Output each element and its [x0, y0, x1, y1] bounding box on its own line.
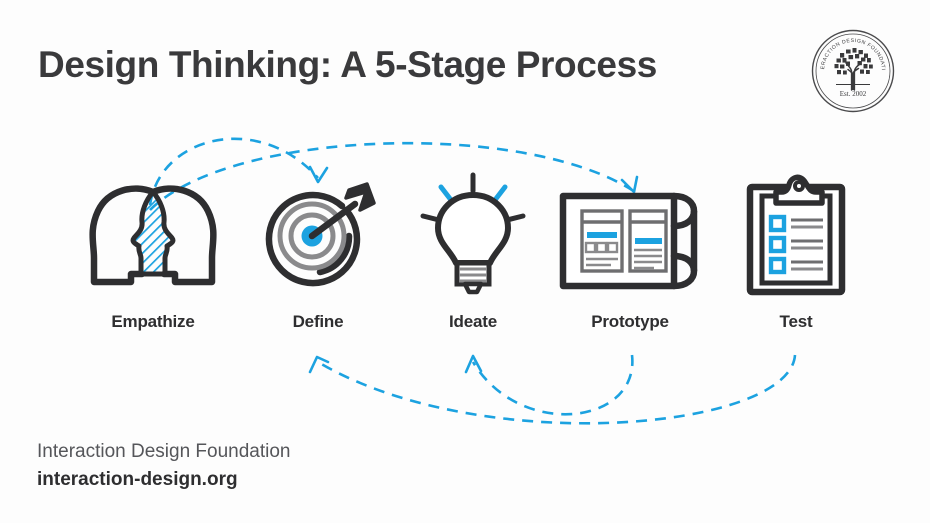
interaction-design-foundation-logo: INTERACTION DESIGN FOUNDATION Est. 2002 [810, 28, 896, 114]
stage-label-prototype: Prototype [550, 312, 710, 332]
stage-test[interactable]: Test [716, 176, 876, 332]
slide-canvas: Design Thinking: A 5-Stage Process INTER… [0, 0, 930, 523]
arrowhead-define-bottom [310, 357, 328, 372]
clipboard-checklist-icon [716, 176, 876, 296]
stage-ideate[interactable]: Ideate [393, 176, 553, 332]
target-bullseye-arrow-icon [238, 176, 398, 296]
blueprint-wireframe-icon [550, 176, 710, 296]
lightbulb-icon [393, 176, 553, 296]
stage-label-define: Define [238, 312, 398, 332]
arrowhead-ideate-bottom [466, 356, 481, 372]
stage-empathize[interactable]: Empathize [73, 176, 233, 332]
stage-row: Empathize Defi [0, 176, 930, 351]
arrow-test-to-define [318, 355, 795, 423]
stage-label-ideate: Ideate [393, 312, 553, 332]
stage-label-empathize: Empathize [73, 312, 233, 332]
logo-established-text: Est. 2002 [840, 90, 867, 98]
footer: Interaction Design Foundation interactio… [37, 439, 291, 492]
two-heads-empathy-icon [73, 176, 233, 296]
stage-label-test: Test [716, 312, 876, 332]
stage-prototype[interactable]: Prototype [550, 176, 710, 332]
footer-organization: Interaction Design Foundation [37, 439, 291, 465]
page-title: Design Thinking: A 5-Stage Process [38, 44, 657, 86]
stage-define[interactable]: Define [238, 176, 398, 332]
ray-upper-left [441, 187, 451, 200]
ray-upper-right [495, 187, 505, 200]
arrow-prototype-to-ideate [473, 355, 632, 414]
footer-url[interactable]: interaction-design.org [37, 467, 291, 493]
